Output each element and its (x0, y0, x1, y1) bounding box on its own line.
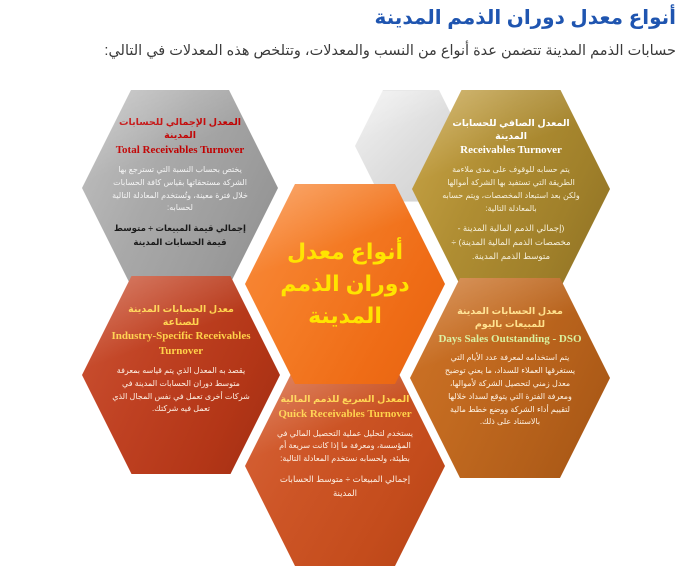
page-subtitle: حسابات الذمم المدينة تتضمن عدة أنواع من … (14, 41, 676, 61)
page-header: أنواع معدل دوران الذمم المدينة حسابات ال… (0, 0, 690, 61)
hexagon-formula: (إجمالي الذمم المالية المدينة - مخصصات ا… (440, 222, 583, 263)
hexagon-total-receivables-turnover[interactable]: المعدل الإجمالي للحسابات المدينة Total R… (82, 90, 278, 286)
hexagon-body-text: يتم استخدامه لمعرفة عدد الأيام التي يستغ… (438, 352, 582, 429)
hexagon-industry-specific-receivables-turnover[interactable]: معدل الحسابات المدينة للصناعة Industry-S… (82, 276, 280, 474)
hexagon-body-text: يستخدم لتحليل عملية التحصيل المالي في ال… (273, 428, 417, 466)
hexagon-title-english: Industry-Specific Receivables Turnover (110, 329, 253, 359)
hexagon-body-text: يختص بحساب النسبة التي تسترجع بها الشركة… (109, 164, 250, 215)
hexagon-title-english: Quick Receivables Turnover (273, 407, 417, 422)
hexagon-body-text: يقصد به المعدل الذي يتم قياسه بمعرفة متو… (110, 365, 253, 416)
hexagon-body-text: يتم حسابه للوقوف على مدى ملاءمة الطريقة … (440, 164, 583, 215)
hexagon-quick-receivables-turnover[interactable]: المعدل السريع للذمم المالية Quick Receiv… (245, 366, 445, 566)
hexagon-title-english: Days Sales Outstanding - DSO (438, 332, 582, 347)
hexagon-diagram: المعدل الإجمالي للحسابات المدينة Total R… (0, 88, 690, 565)
hexagon-title-arabic: المعدل الصافي للحسابات المدينة (440, 118, 583, 144)
hexagon-title-arabic: المعدل السريع للذمم المالية (273, 394, 417, 407)
hexagon-title-arabic: معدل الحسابات المدينة للمبيعات باليوم (438, 306, 582, 332)
hexagon-title-english: Receivables Turnover (440, 143, 583, 158)
hexagon-title-english: Total Receivables Turnover (109, 143, 250, 158)
hexagon-title-arabic: معدل الحسابات المدينة للصناعة (110, 304, 253, 330)
page-title: أنواع معدل دوران الذمم المدينة (14, 6, 676, 31)
hexagon-formula: إجمالي قيمة المبيعات ÷ متوسط قيمة الحساب… (109, 222, 250, 250)
hexagon-days-sales-outstanding[interactable]: معدل الحسابات المدينة للمبيعات باليوم Da… (410, 278, 610, 478)
hexagon-formula: إجمالي المبيعات ÷ متوسط الحسابات المدينة (273, 473, 417, 501)
hexagon-center-main[interactable]: أنواع معدل دوران الذمم المدينة (245, 184, 445, 384)
hexagon-title-arabic: المعدل الإجمالي للحسابات المدينة (109, 117, 250, 143)
center-label: أنواع معدل دوران الذمم المدينة (267, 236, 423, 332)
